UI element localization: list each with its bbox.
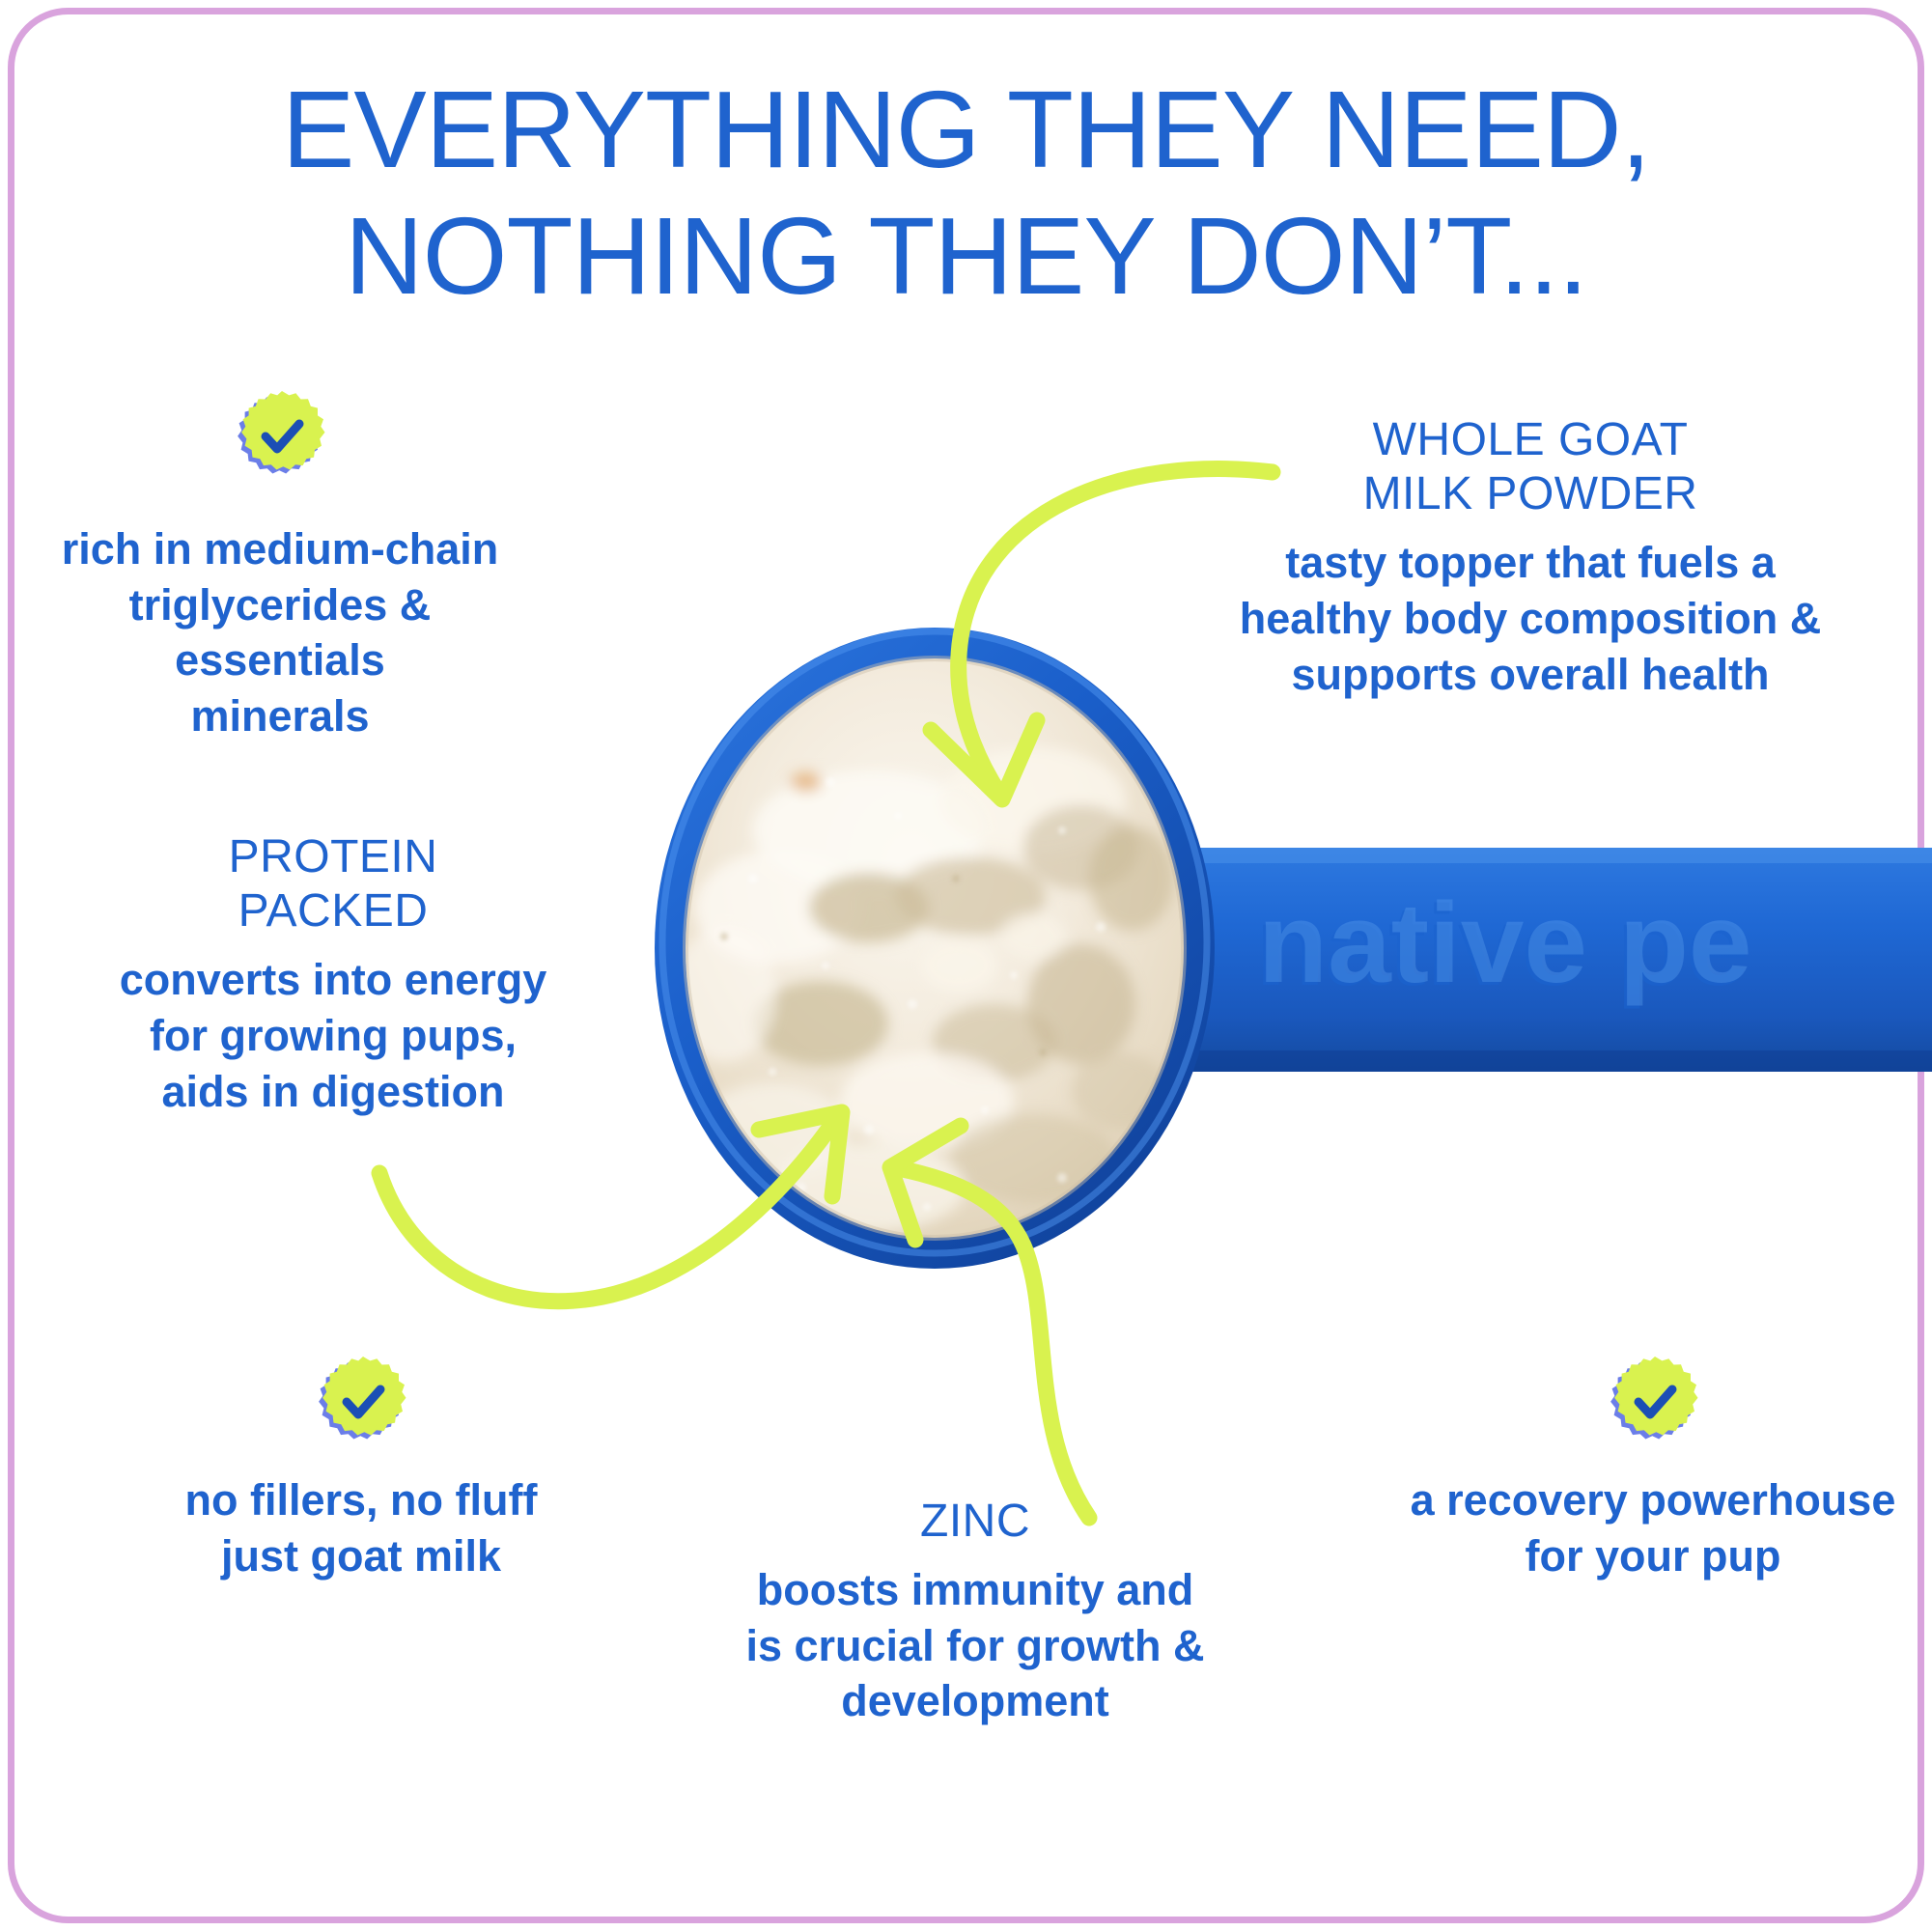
callout-kicker-line: MILK POWDER xyxy=(1212,467,1849,521)
callout-body-line: a recovery powerhouse xyxy=(1373,1472,1932,1528)
callout-body-line: for your pup xyxy=(1373,1528,1932,1584)
check-badge-no-fillers xyxy=(311,1350,411,1450)
callout-kicker: WHOLE GOAT MILK POWDER xyxy=(1212,413,1849,521)
callout-body-line: aids in digestion xyxy=(72,1064,594,1120)
callout-body-line: healthy body composition & xyxy=(1212,591,1849,647)
callout-body: tasty topper that fuels a healthy body c… xyxy=(1212,535,1849,702)
callout-body-line: is crucial for growth & xyxy=(686,1618,1265,1674)
callout-body-line: no fillers, no fluff xyxy=(100,1472,622,1528)
callout-zinc: ZINC boosts immunity and is crucial for … xyxy=(686,1495,1265,1729)
page-title-line-1: EVERYTHING THEY NEED, xyxy=(0,75,1932,184)
callout-body: no fillers, no fluff just goat milk xyxy=(100,1472,622,1583)
callout-medium-chain-triglycerides: rich in medium-chain triglycerides & ess… xyxy=(19,521,541,743)
callout-body: boosts immunity and is crucial for growt… xyxy=(686,1562,1265,1729)
callout-body-line: rich in medium-chain xyxy=(19,521,541,577)
callout-body-line: converts into energy xyxy=(72,952,594,1008)
callout-whole-goat-milk-powder: WHOLE GOAT MILK POWDER tasty topper that… xyxy=(1212,413,1849,702)
callout-body: rich in medium-chain triglycerides & ess… xyxy=(19,521,541,743)
callout-body: converts into energy for growing pups, a… xyxy=(72,952,594,1119)
callout-no-fillers: no fillers, no fluff just goat milk xyxy=(100,1472,622,1583)
svg-text:native pe: native pe xyxy=(1258,880,1752,1007)
callout-body-line: for growing pups, xyxy=(72,1008,594,1064)
check-badge-medium-chain-triglycerides xyxy=(230,384,330,485)
check-icon xyxy=(230,384,330,485)
callout-body: a recovery powerhouse for your pup xyxy=(1373,1472,1932,1583)
callout-kicker-line: PACKED xyxy=(72,884,594,938)
callout-body-line: just goat milk xyxy=(100,1528,622,1584)
callout-kicker: ZINC xyxy=(686,1495,1265,1549)
check-badge-recovery-powerhouse xyxy=(1603,1350,1703,1450)
callout-body-line: supports overall health xyxy=(1212,647,1849,703)
check-icon xyxy=(311,1350,411,1450)
page-title: EVERYTHING THEY NEED, NOTHING THEY DON’T… xyxy=(0,75,1932,311)
callout-protein-packed: PROTEIN PACKED converts into energy for … xyxy=(72,830,594,1119)
callout-recovery-powerhouse: a recovery powerhouse for your pup xyxy=(1373,1472,1932,1583)
page-title-line-2: NOTHING THEY DON’T... xyxy=(0,202,1932,311)
scoop-handle: native pe native pe xyxy=(1120,848,1932,1072)
callout-kicker-line: ZINC xyxy=(686,1495,1265,1549)
callout-body-line: development xyxy=(686,1673,1265,1729)
scoop-bowl xyxy=(655,628,1215,1269)
callout-kicker-line: WHOLE GOAT xyxy=(1212,413,1849,467)
infographic-canvas: native pe native pe xyxy=(0,0,1932,1931)
callout-body-line: tasty topper that fuels a xyxy=(1212,535,1849,591)
callout-kicker: PROTEIN PACKED xyxy=(72,830,594,938)
callout-body-line: triglycerides & essentials xyxy=(19,577,541,688)
callout-kicker-line: PROTEIN xyxy=(72,830,594,884)
check-icon xyxy=(1603,1350,1703,1450)
callout-body-line: boosts immunity and xyxy=(686,1562,1265,1618)
callout-body-line: minerals xyxy=(19,688,541,744)
